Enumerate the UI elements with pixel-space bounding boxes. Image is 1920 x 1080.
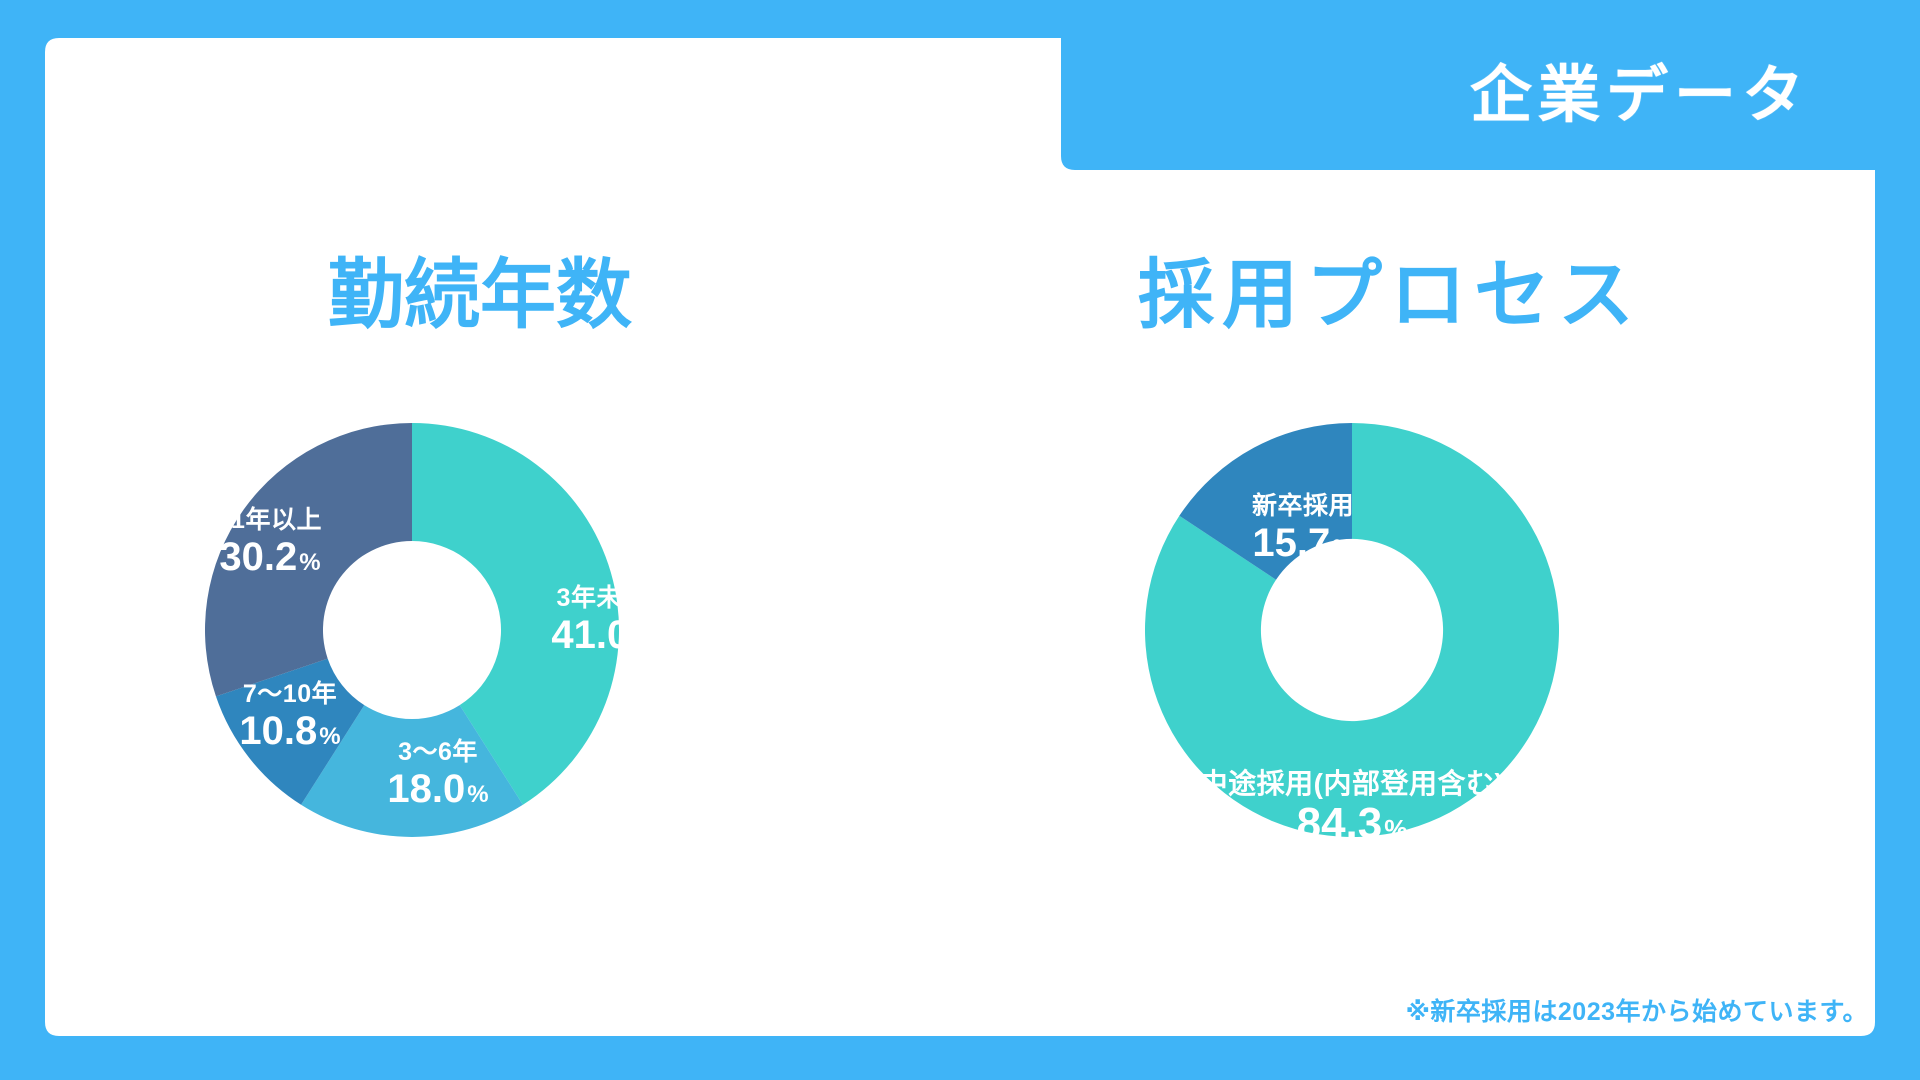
panel-recruiting: 採用プロセス 新卒採用 15.7% 中途採用(内部登用含む) 84.3% (940, 250, 1840, 1010)
header-badge: 企業データ (1318, 22, 1878, 170)
donut-slice-3 (205, 423, 412, 696)
chart-title-recruiting: 採用プロセス (940, 258, 1840, 334)
donut-svg-recruiting (940, 398, 1840, 868)
page-title: 企業データ (1470, 65, 1810, 127)
panel-tenure: 勤続年数 3年未満 41.0% 3〜6年 18.0% 7〜10年 10.8% 1… (60, 250, 900, 1010)
chart-title-tenure: 勤続年数 (60, 258, 900, 334)
donut-svg-tenure (60, 398, 900, 868)
donut-chart-recruiting: 新卒採用 15.7% 中途採用(内部登用含む) 84.3% (940, 398, 1840, 868)
footnote-text: ※新卒採用は2023年から始めています。 (1406, 992, 1868, 1028)
donut-chart-tenure: 3年未満 41.0% 3〜6年 18.0% 7〜10年 10.8% 11年以上 … (60, 398, 900, 868)
